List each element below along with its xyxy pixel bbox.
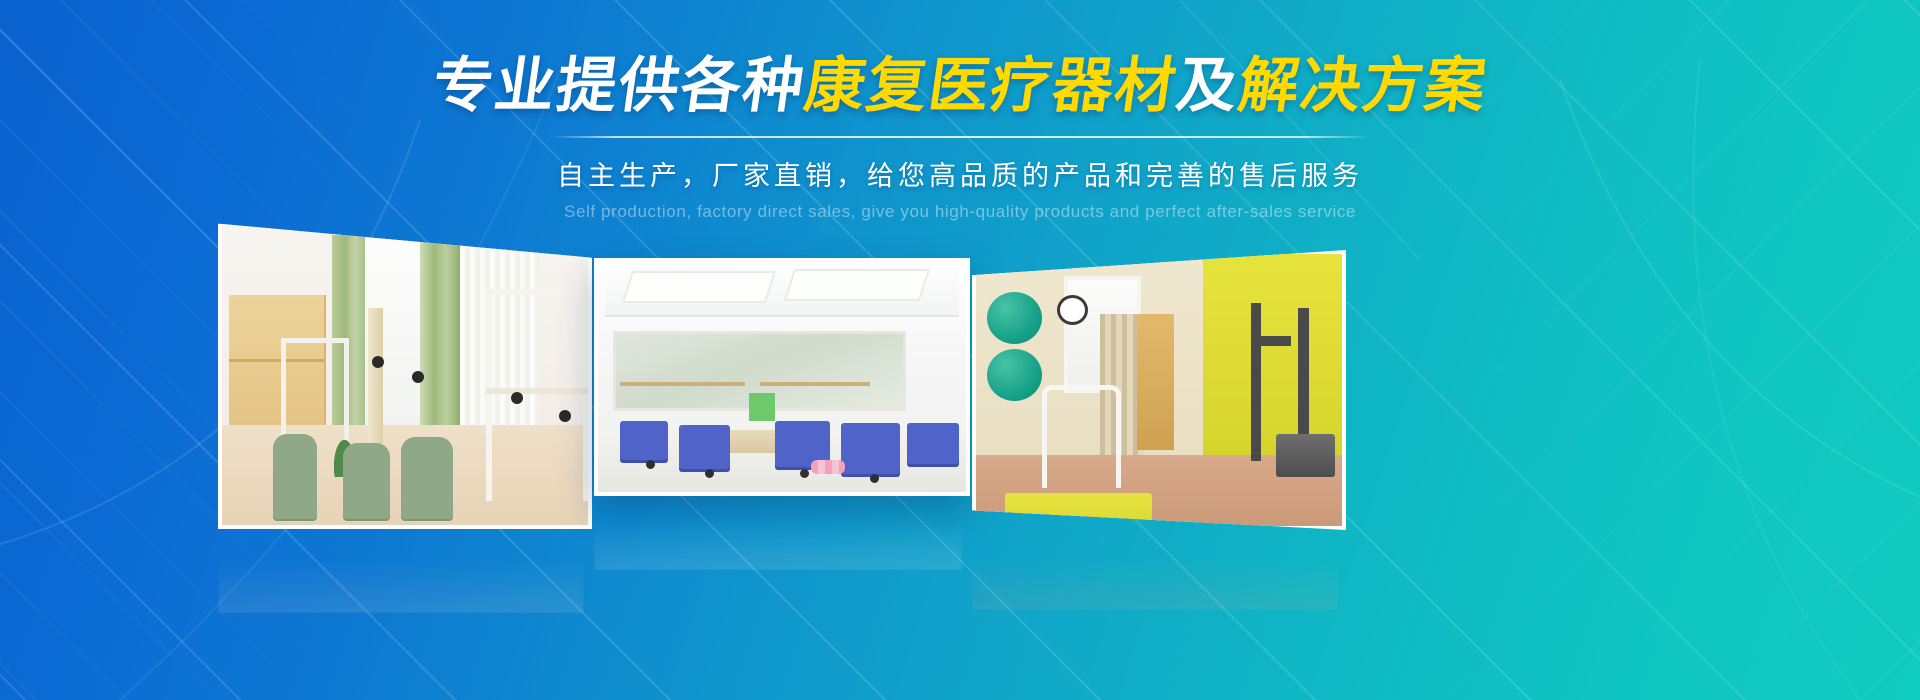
headline-divider xyxy=(550,136,1370,138)
scene-strength-machine-bar xyxy=(1258,336,1291,347)
headline-segment-1: 专业提供各种 xyxy=(428,52,809,119)
scene-chair-1 xyxy=(273,434,317,519)
headline: 专业提供各种康复医疗器材及解决方案 xyxy=(0,56,1920,116)
scene-ceiling-light-1 xyxy=(622,271,776,303)
promo-banner: 专业提供各种康复医疗器材及解决方案 自主生产，厂家直销，给您高品质的产品和完善的… xyxy=(0,0,1920,700)
scene-chair-2 xyxy=(343,443,391,519)
scene-green-board xyxy=(749,393,775,421)
scene-door xyxy=(1137,314,1174,450)
photo-scene-right xyxy=(976,254,1342,526)
scene-yellow-treatment-table xyxy=(1005,493,1151,526)
scene-treatment-bed-2 xyxy=(679,425,731,469)
headline-segment-4: 解决方案 xyxy=(1234,52,1491,119)
photo-scene-left xyxy=(222,223,588,525)
scene-parallel-bar-2 xyxy=(760,382,870,386)
scene-ceiling-light-2 xyxy=(784,269,931,301)
scene-knob-4 xyxy=(559,410,571,422)
gallery-photo-rehabilitation-training-room[interactable] xyxy=(218,219,592,529)
scene-knob-1 xyxy=(372,356,384,368)
gallery-photo-physiotherapy-equipment-room[interactable] xyxy=(972,250,1346,530)
headline-segment-2: 康复医疗器材 xyxy=(800,52,1181,119)
banner-copy: 专业提供各种康复医疗器材及解决方案 自主生产，厂家直销，给您高品质的产品和完善的… xyxy=(0,56,1920,222)
subtitle-chinese: 自主生产，厂家直销，给您高品质的产品和完善的售后服务 xyxy=(0,154,1920,193)
scene-strength-machine-1 xyxy=(1251,303,1262,461)
scene-parallel-bar-1 xyxy=(620,382,745,386)
scene-dumbbell-rack xyxy=(811,460,844,474)
scene-treatment-bed-5 xyxy=(907,423,959,464)
gallery-photo-rehabilitation-gym-hall[interactable] xyxy=(594,258,970,496)
headline-segment-3: 及 xyxy=(1172,52,1243,119)
scene-treatment-bed-1 xyxy=(620,421,668,460)
scene-caster-2 xyxy=(705,469,714,478)
scene-bench xyxy=(1276,434,1335,478)
scene-treatment-bed-4 xyxy=(841,423,900,474)
scene-caster-1 xyxy=(646,460,655,469)
scene-exercise-ball-2 xyxy=(987,349,1042,401)
subtitle-english: Self production, factory direct sales, g… xyxy=(0,202,1920,222)
scene-white-rack xyxy=(1042,385,1122,488)
photo-scene-center xyxy=(598,262,966,492)
scene-strength-machine-2 xyxy=(1298,308,1309,449)
scene-equipment-frame-right xyxy=(486,289,588,500)
scene-exercise-ball-1 xyxy=(987,292,1042,344)
scene-wall-clock xyxy=(1057,295,1089,325)
scene-chair-3 xyxy=(401,437,452,519)
